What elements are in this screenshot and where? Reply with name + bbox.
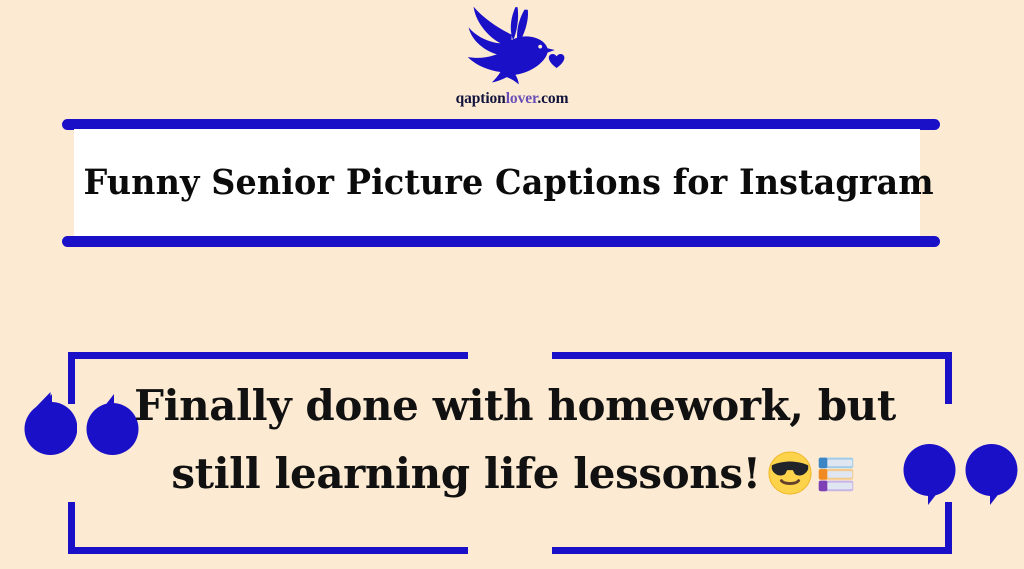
wordmark-part-two: lover: [506, 90, 538, 107]
page-title: Funny Senior Picture Captions for Instag…: [74, 165, 934, 202]
wordmark-part-one: qaption: [456, 90, 506, 107]
frame-top-right-segment: [552, 352, 952, 359]
dove-with-heart-icon: [453, 4, 571, 90]
title-banner: Funny Senior Picture Captions for Instag…: [62, 119, 940, 249]
quote-line-1: Finally done with homework, but: [120, 372, 910, 440]
frame-top-left-segment: [68, 352, 468, 359]
site-branding: qaptionlover.com: [0, 4, 1024, 116]
banner-bottom-rule: [62, 236, 940, 247]
frame-left-bottom-segment: [68, 502, 75, 554]
smiling-face-with-sunglasses-emoji: [767, 450, 813, 496]
quote-card: Finally done with homework, but still le…: [0, 330, 1024, 569]
frame-right-bottom-segment: [945, 502, 952, 554]
quote-text: Finally done with homework, but still le…: [120, 372, 910, 508]
site-wordmark[interactable]: qaptionlover.com: [456, 91, 569, 107]
frame-right-top-segment: [945, 352, 952, 404]
banner-plate: Funny Senior Picture Captions for Instag…: [74, 129, 920, 237]
quote-line-2-wrap: still learning life lessons!: [120, 440, 910, 508]
frame-bottom-left-segment: [68, 547, 468, 554]
books-emoji: [813, 450, 859, 496]
quote-line-2: still learning life lessons!: [171, 449, 760, 498]
quote-emoji-run: [767, 450, 859, 496]
frame-bottom-right-segment: [552, 547, 952, 554]
wordmark-part-three: .com: [537, 90, 568, 107]
close-quote-mark-icon: [903, 442, 1018, 507]
poster-canvas: qaptionlover.com Funny Senior Picture Ca…: [0, 0, 1024, 569]
